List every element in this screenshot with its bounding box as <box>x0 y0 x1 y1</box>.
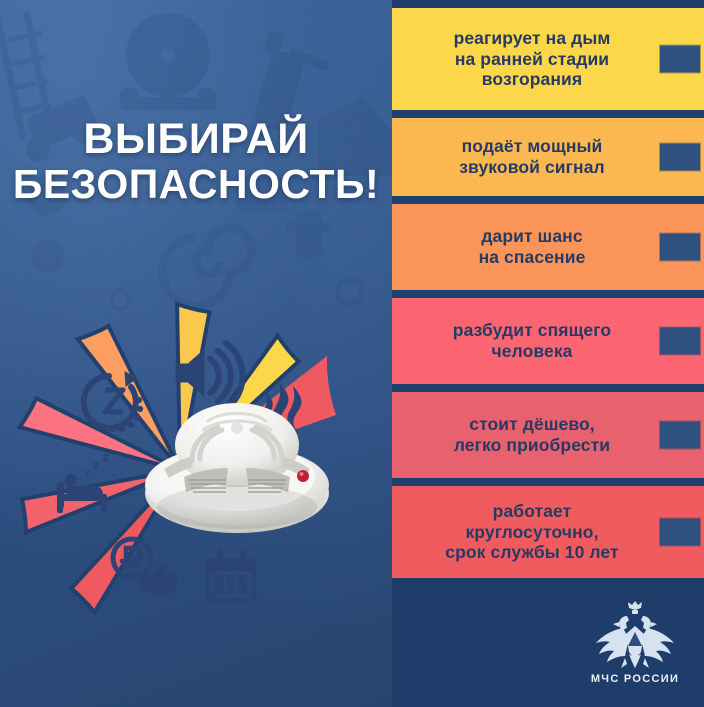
benefit-row-chance[interactable]: дарит шансна спасение <box>392 204 704 290</box>
benefit-row-wakeup[interactable]: разбудит спящегочеловека <box>392 298 704 384</box>
benefit-text: разбудит спящегочеловека <box>406 320 658 362</box>
benefit-text: реагирует на дымна ранней стадиивозгоран… <box>406 28 658 90</box>
benefit-row-lifetime[interactable]: работаеткруглосуточно,срок службы 10 лет <box>392 486 704 578</box>
row-divider <box>392 110 704 118</box>
benefit-tab <box>660 234 700 261</box>
benefit-tab <box>660 144 700 171</box>
double-headed-eagle-icon <box>575 598 695 672</box>
benefit-tab <box>660 46 700 73</box>
emercom-logo: МЧС РОССИИ <box>575 598 695 698</box>
wheel-icon-calendar <box>208 549 254 600</box>
benefit-row-smoke[interactable]: реагирует на дымна ранней стадиивозгоран… <box>392 8 704 110</box>
row-divider <box>392 478 704 486</box>
benefit-text: стоит дёшево,легко приобрести <box>406 414 658 456</box>
row-divider <box>392 384 704 392</box>
benefit-tab <box>660 328 700 355</box>
benefit-row-cheap[interactable]: стоит дёшево,легко приобрести <box>392 392 704 478</box>
benefit-text: работаеткруглосуточно,срок службы 10 лет <box>406 501 658 563</box>
benefit-text: дарит шансна спасение <box>406 226 658 268</box>
logo-caption: МЧС РОССИИ <box>575 673 695 685</box>
benefit-row-sound[interactable]: подаёт мощныйзвуковой сигнал <box>392 118 704 196</box>
row-divider <box>392 290 704 298</box>
smoke-detector-device <box>142 381 332 546</box>
benefit-tab <box>660 422 700 449</box>
benefit-tab <box>660 519 700 546</box>
benefits-list: реагирует на дымна ранней стадиивозгоран… <box>392 0 704 584</box>
row-divider <box>392 196 704 204</box>
detector-led <box>297 470 309 482</box>
benefit-text: подаёт мощныйзвуковой сигнал <box>406 136 658 178</box>
